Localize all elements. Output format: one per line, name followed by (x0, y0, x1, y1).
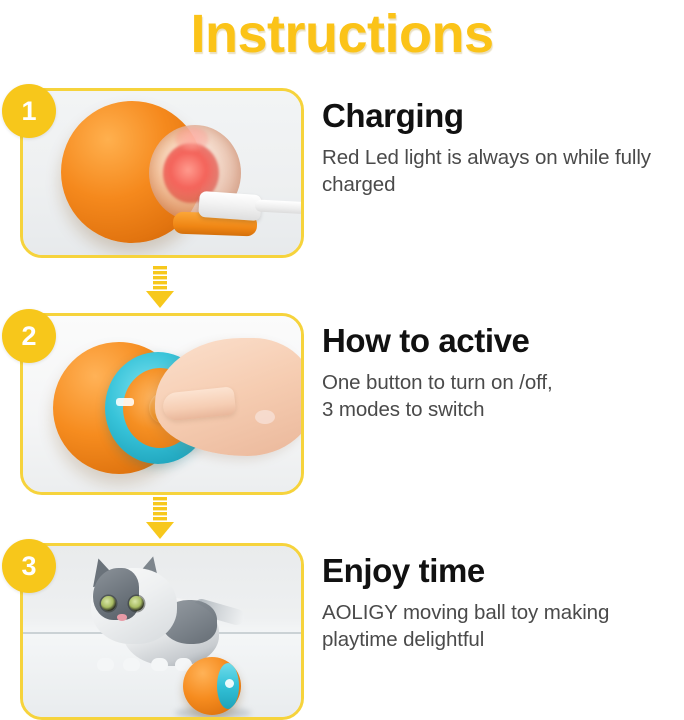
kitten-paw (97, 658, 114, 671)
step-row-3: 3 Enjoy time AOLIGY moving ball toy maki… (0, 543, 684, 720)
page-title: Instructions (0, 2, 684, 66)
step-1-number-badge: 1 (2, 84, 56, 138)
step-2-heading: How to active (322, 321, 680, 361)
step-1-body: Red Led light is always on while fully c… (322, 144, 680, 198)
step-row-2: 2 How to active One button to turn on /o… (0, 313, 684, 495)
step-1-image-card (20, 88, 304, 258)
kitten-paw (123, 658, 140, 671)
kitten-eye-left (101, 596, 116, 611)
step-1-photo (23, 91, 301, 255)
red-led-highlight-icon (175, 127, 209, 151)
step-1-text: Charging Red Led light is always on whil… (322, 96, 680, 198)
step-3-body: AOLIGY moving ball toy making playtime d… (322, 599, 680, 653)
thumb-nail-icon (255, 410, 275, 424)
step-2-photo (23, 316, 301, 492)
kitten-paw (151, 658, 168, 671)
step-2-text: How to active One button to turn on /off… (322, 321, 680, 423)
step-2-body: One button to turn on /off, 3 modes to s… (322, 369, 680, 423)
arrow-step-1-to-2-icon (146, 266, 174, 308)
kitten-eye-right (129, 596, 144, 611)
step-row-1: 1 Charging Red Led light is always on wh… (0, 88, 684, 258)
step-2-image-card (20, 313, 304, 495)
white-stripe-icon (116, 398, 134, 406)
step-1-heading: Charging (322, 96, 680, 136)
white-dot-icon (225, 679, 234, 688)
step-3-photo (23, 546, 301, 717)
step-3-number-badge: 3 (2, 539, 56, 593)
step-3-heading: Enjoy time (322, 551, 680, 591)
instructions-infographic: Instructions 1 Charging Red Led light is… (0, 0, 684, 720)
step-3-text: Enjoy time AOLIGY moving ball toy making… (322, 551, 680, 653)
step-3-image-card (20, 543, 304, 720)
orange-ball-icon (183, 657, 241, 715)
kitten-nose (117, 614, 127, 621)
arrow-step-2-to-3-icon (146, 497, 174, 539)
step-2-number-badge: 2 (2, 309, 56, 363)
usb-plug-icon (198, 191, 262, 221)
kitten-head-gray-patch (93, 568, 139, 620)
